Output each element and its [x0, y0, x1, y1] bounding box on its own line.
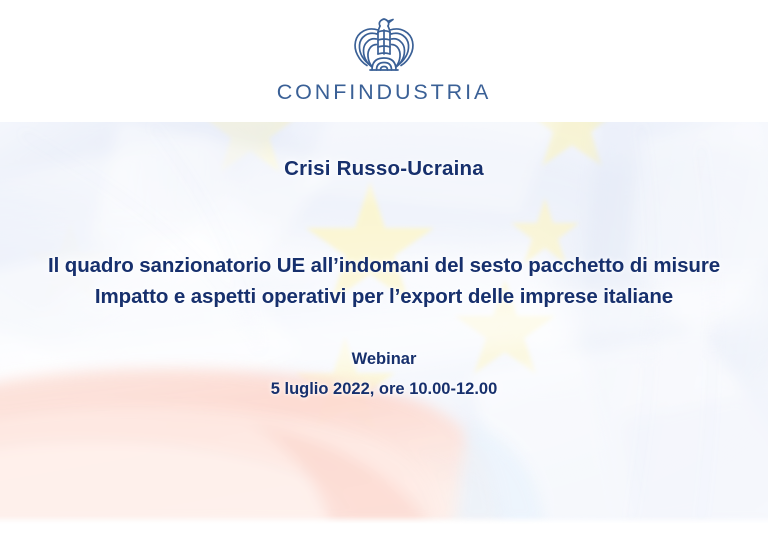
event-subtitle: Il quadro sanzionatorio UE all’indomani … — [0, 250, 768, 312]
event-flyer: CONFINDUSTRIA — [0, 0, 768, 534]
confindustria-eagle-icon — [338, 14, 430, 76]
event-banner: Crisi Russo-Ucraina Il quadro sanzionato… — [0, 122, 768, 526]
confindustria-wordmark: CONFINDUSTRIA — [277, 82, 491, 104]
event-format: Webinar — [0, 350, 768, 369]
event-subtitle-line-1: Il quadro sanzionatorio UE all’indomani … — [48, 254, 720, 277]
banner-text-layer: Crisi Russo-Ucraina Il quadro sanzionato… — [0, 122, 768, 526]
event-subtitle-line-2: Impatto e aspetti operativi per l’export… — [0, 281, 768, 312]
brand-header: CONFINDUSTRIA — [0, 0, 768, 122]
event-title: Crisi Russo-Ucraina — [0, 157, 768, 181]
event-datetime: 5 luglio 2022, ore 10.00-12.00 — [0, 380, 768, 399]
footer-whitespace — [0, 526, 768, 534]
